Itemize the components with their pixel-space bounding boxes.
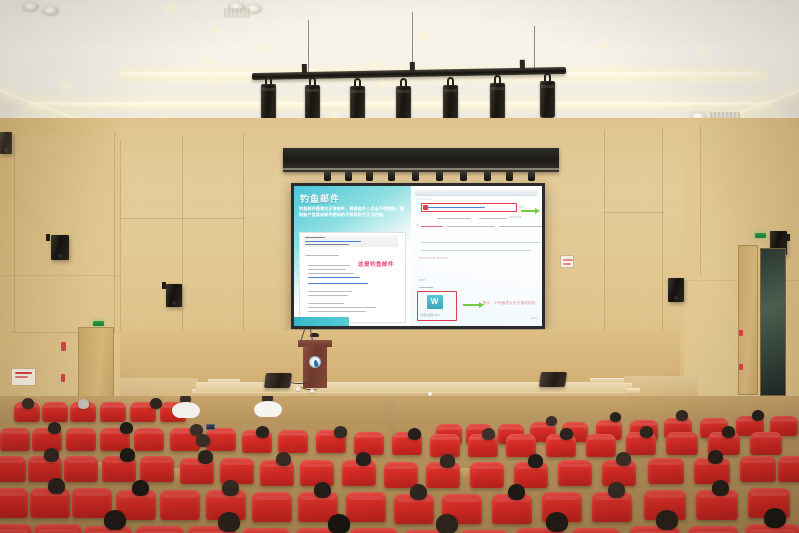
seat [34,524,82,533]
attendee-head [256,426,269,438]
hvac-vent [224,8,250,18]
attendee-head-filming [196,434,210,447]
seat [278,430,308,453]
attendee-head [22,398,34,409]
seat [300,460,334,486]
seat [666,432,698,455]
attendee-head [356,452,371,466]
attendee-head [150,398,162,409]
attendee-head [676,410,688,421]
slide-right-panel: ▪ ▪ ▪ ▪ ▪ ▪ ▪▪▪▪ ▪▪▪▪▪▪▪▪▪ ▪▪ ▪▪▪▪▪▪▪▪▪▪… [411,186,542,326]
seat [252,492,292,522]
stage-light-fixture [396,78,411,123]
downlight [420,34,427,38]
downlight [208,76,215,80]
door-glass-panel [760,248,786,396]
seat [354,432,384,455]
valance-spotlight [506,172,513,181]
valance-spotlight [324,172,331,181]
downlight [690,74,697,78]
valance-spotlight [388,172,395,181]
projection-screen[interactable]: 钓鱼邮件 钓鱼邮件是冒充正常邮件，诱使收件人点击不明链接，骗取账户信息或邮件密码… [291,183,545,329]
fire-equipment-marker [739,364,743,370]
stage-marker [296,387,300,391]
attendee-head [546,416,557,426]
downlight [612,66,619,70]
stage-light-fixture [261,76,276,121]
wall-seam [120,218,244,219]
wall-seam [0,275,120,276]
seat [586,434,616,457]
truss-lug [520,60,525,69]
stage-monitor-speaker [539,372,567,387]
speaker-bracket [46,234,50,241]
attendee-head [656,510,678,530]
seat [64,456,98,482]
seat [346,492,386,522]
institution-crest-icon [309,356,321,368]
green-arrow-icon-2 [463,304,479,306]
seat [688,526,738,533]
attendee-head [408,428,421,440]
wall-speaker [0,132,12,154]
attendee-head [610,412,621,422]
fire-equipment-marker [61,374,65,382]
seat [66,428,96,451]
seat [0,488,28,518]
attendee-head [508,484,525,500]
attendee-head [120,422,133,434]
attendee-head [752,410,764,421]
seat [778,456,799,482]
wall-notice-sign [560,255,574,268]
attendee-head [44,448,59,462]
attendee-head [222,480,239,496]
seat [350,528,398,533]
wall-speaker [166,284,182,307]
tablet-device [206,424,215,430]
side-door-left[interactable] [78,327,114,399]
downlight [205,60,212,64]
slide-subtitle: 钓鱼邮件是冒充正常邮件，诱使收件人点击不明链接，骗取账户信息或邮件密码的手段获取… [299,206,404,219]
stage-light-fixture [305,77,320,122]
slide-callout: 这是钓鱼邮件 [358,260,394,268]
valance-spotlight [460,172,467,181]
stage-light-fixture [540,73,555,118]
client-menu-text: ▪ ▪ ▪ ▪ ▪ ▪ [417,197,431,201]
attendee-head [608,482,625,498]
speaker-bracket [786,234,790,241]
attendee-head [48,422,61,434]
attendee-head [436,514,458,533]
light-body [261,84,276,121]
light-body [443,85,458,122]
wall-speaker [668,278,684,302]
auditorium-photo: 钓鱼邮件 钓鱼邮件是冒充正常邮件，诱使收件人点击不明链接，骗取账户信息或邮件密码… [0,0,799,533]
green-arrow-icon [521,210,535,212]
warning-icon [423,205,428,210]
side-door-right[interactable] [738,245,758,395]
seat [160,490,200,520]
slide-surface: 钓鱼邮件 钓鱼邮件是冒充正常邮件，诱使收件人点击不明链接，骗取账户信息或邮件密码… [294,186,542,326]
attendee-head [528,454,543,468]
valance-spotlight [345,172,352,181]
downlight [258,46,265,50]
attendee-head [132,480,149,496]
fire-equipment-marker [61,342,66,351]
light-body [490,83,505,120]
attendee-head [410,484,427,500]
audience-area [0,396,799,533]
attendee-head [48,478,65,494]
attendee-head [78,399,89,409]
attendee-head [712,480,729,496]
valance-spotlight [528,172,535,181]
seat [0,456,26,482]
attendee-head [560,428,573,440]
email-body-card: 这是钓鱼邮件 [299,232,406,323]
seat [242,528,290,533]
attendee-head [440,454,455,468]
attendee-head [198,450,213,464]
downlight [600,44,607,48]
attendee-head [104,510,126,530]
truss-support-wire [308,20,309,72]
attendee-shoulders [172,402,200,418]
stage-light-fixture [350,78,365,123]
recessed-can-light [42,6,59,16]
stage-marker [310,389,314,393]
seat [140,456,174,482]
downlight [62,84,69,88]
valance-spotlight [484,172,491,181]
seat [134,428,164,451]
attendee-head [616,452,631,466]
seat [0,524,32,533]
fire-equipment-marker [739,330,743,336]
attendee-shoulders [254,401,282,417]
slide-left-panel: 钓鱼邮件 钓鱼邮件是冒充正常邮件，诱使收件人点击不明链接，骗取账户信息或邮件密码… [294,186,411,326]
downlight [378,82,385,86]
valance-spotlight [412,172,419,181]
downlight [372,62,379,66]
attendee-head [722,426,735,438]
downlight [760,74,767,78]
slide-footer-band [294,317,349,326]
seat [220,458,254,484]
downlight [168,6,175,10]
recessed-can-light [22,2,39,12]
wall-notice-sign [11,368,36,386]
attendee-head [546,512,568,532]
seat [648,458,684,484]
wall-seam [604,212,664,213]
exit-sign-left [93,321,104,326]
wall-seam [700,126,701,276]
slide-annotation: 提示：不可随意点击外链或附件 [483,301,536,306]
truss-lug [410,62,415,71]
seat [0,428,30,451]
attendee-head [276,452,291,466]
seat [572,528,620,533]
valance-spotlight [436,172,443,181]
attendee-head [328,514,350,533]
valance-spotlight [366,172,373,181]
email-client-titlebar [415,190,537,196]
exit-sign-right [755,233,766,238]
seat [470,462,504,488]
seat [384,462,418,488]
truss-lug [302,64,307,73]
light-body [305,85,320,122]
center-aisle [386,396,396,436]
seat [750,432,782,455]
seat [100,402,126,422]
wall-seam [114,132,115,332]
word-document-icon: W [427,295,443,309]
downlight [700,48,707,52]
wall-speaker [51,235,69,260]
acoustic-panel [12,134,114,332]
stage-light-fixture [443,77,458,122]
attendee-head [764,508,786,528]
seat [42,402,68,422]
seat [206,428,236,451]
seat [506,434,536,457]
stage-light-fixture [490,75,505,120]
light-body [540,81,555,118]
attendee-head [120,448,135,462]
attendee-head [314,482,331,498]
attendee-head [218,512,240,532]
seat [136,526,184,533]
wall-seam [14,134,15,332]
attendee-head [482,428,495,440]
slide-title: 钓鱼邮件 [300,192,340,205]
seat [740,456,776,482]
downlight [213,28,220,32]
attendee-head [334,426,347,438]
attendee-head [708,450,723,464]
attendee-head [640,426,653,438]
attachment-filename: 附件文档.doc [421,313,440,317]
screen-valance [283,148,559,172]
seat [558,460,592,486]
